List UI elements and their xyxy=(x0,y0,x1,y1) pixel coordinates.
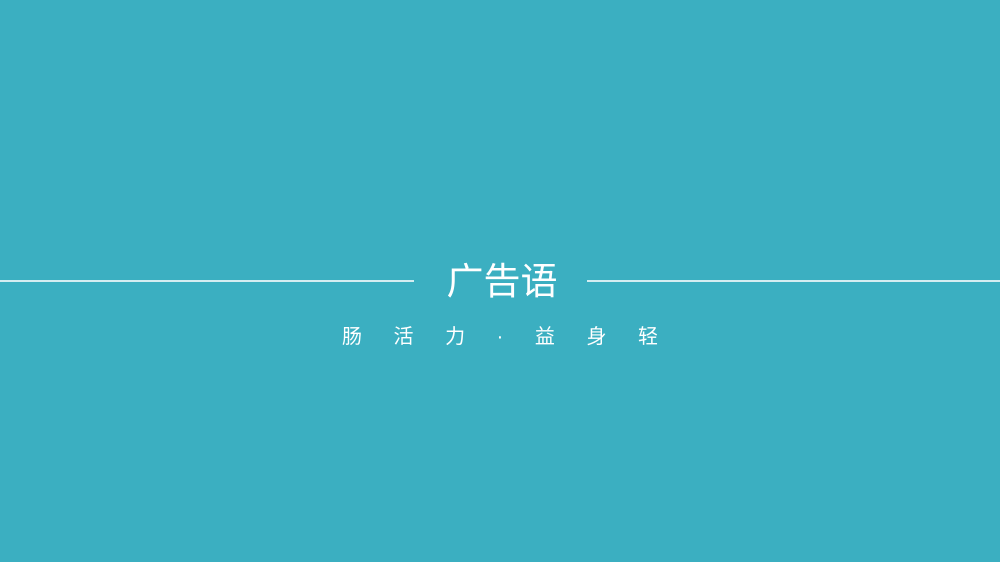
page-title: 广告语 xyxy=(447,263,558,300)
divider-rule-right xyxy=(587,280,1000,282)
slide-canvas: 广告语 肠 活 力 · 益 身 轻 xyxy=(0,0,1000,562)
slide-subtitle: 肠 活 力 · 益 身 轻 xyxy=(0,324,1000,350)
divider-rule-left xyxy=(0,280,414,282)
title-band: 广告语 xyxy=(0,0,1000,562)
